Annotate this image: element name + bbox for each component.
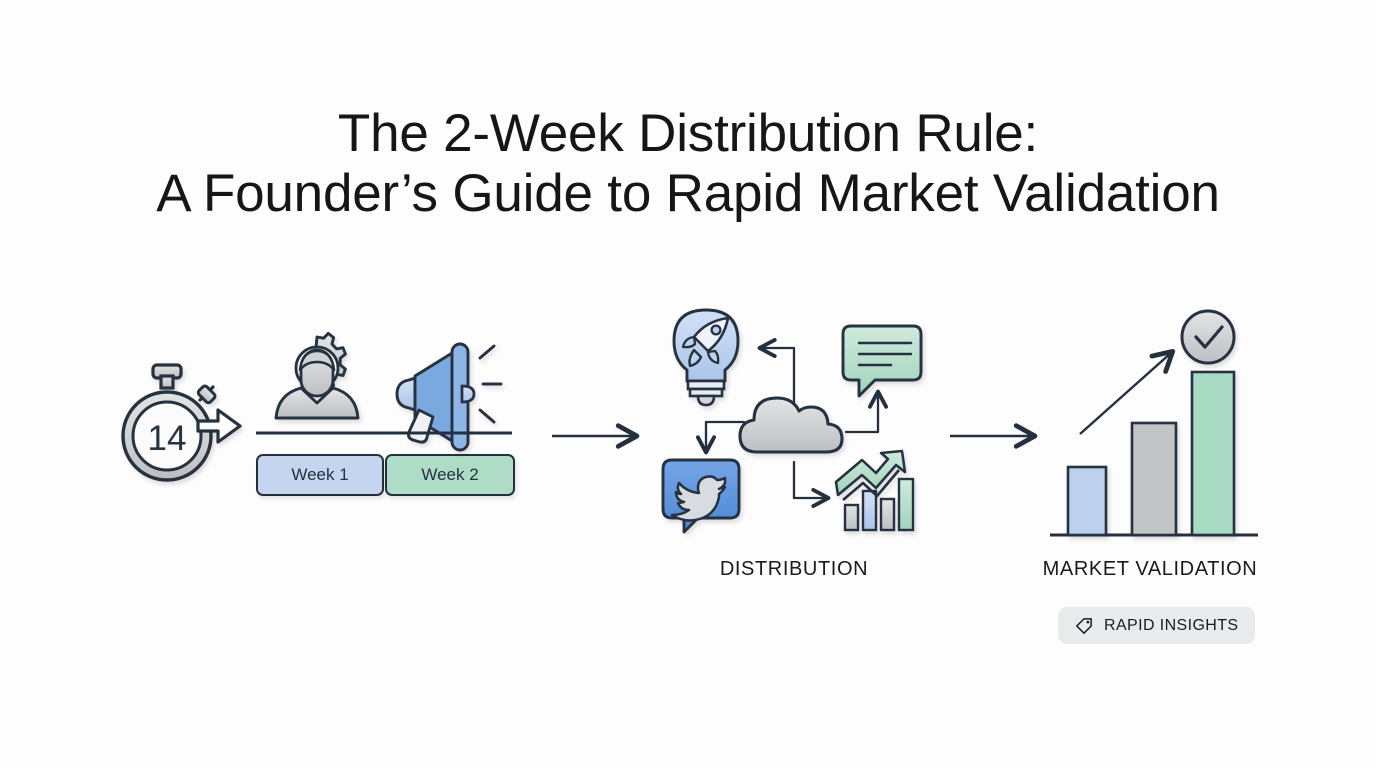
lightbulb-rocket-icon xyxy=(674,310,738,405)
megaphone-icon xyxy=(397,344,501,450)
hub-to-growth-arrow xyxy=(794,462,828,498)
hub-to-lightbulb-arrow xyxy=(760,348,794,402)
market-validation-chart xyxy=(1050,311,1258,535)
bar-1 xyxy=(1068,467,1106,535)
page-title: The 2-Week Distribution Rule: A Founder’… xyxy=(0,104,1376,225)
rapid-insights-badge[interactable]: RAPID INSIGHTS xyxy=(1058,607,1255,644)
week-2-label: Week 2 xyxy=(421,465,478,485)
stopwatch-value: 14 xyxy=(148,419,187,458)
title-line-2: A Founder’s Guide to Rapid Market Valida… xyxy=(0,164,1376,224)
social-bird-bubble-icon xyxy=(663,460,739,532)
distribution-label: DISTRIBUTION xyxy=(648,558,940,581)
gear-person-icon xyxy=(276,333,358,418)
growth-chart-icon xyxy=(836,451,913,530)
week-1-label: Week 1 xyxy=(291,465,348,485)
tag-icon xyxy=(1074,615,1095,636)
week-1-chip[interactable]: Week 1 xyxy=(256,454,384,496)
stopwatch-14-icon: 14 xyxy=(123,365,240,480)
hub-to-social-arrow xyxy=(706,422,744,452)
bar-2 xyxy=(1132,423,1176,535)
bar-3 xyxy=(1192,372,1234,535)
infographic-canvas: The 2-Week Distribution Rule: A Founder’… xyxy=(0,0,1376,768)
cloud-icon xyxy=(740,398,842,452)
check-circle-icon xyxy=(1182,311,1234,363)
rapid-insights-label: RAPID INSIGHTS xyxy=(1104,617,1239,635)
title-line-1: The 2-Week Distribution Rule: xyxy=(0,104,1376,164)
hub-to-speech-arrow xyxy=(846,392,878,432)
speech-bubble-icon xyxy=(843,326,921,396)
trend-arrow xyxy=(1080,352,1172,434)
market-validation-label: MARKET VALIDATION xyxy=(1000,558,1300,581)
week-2-chip[interactable]: Week 2 xyxy=(385,454,515,496)
